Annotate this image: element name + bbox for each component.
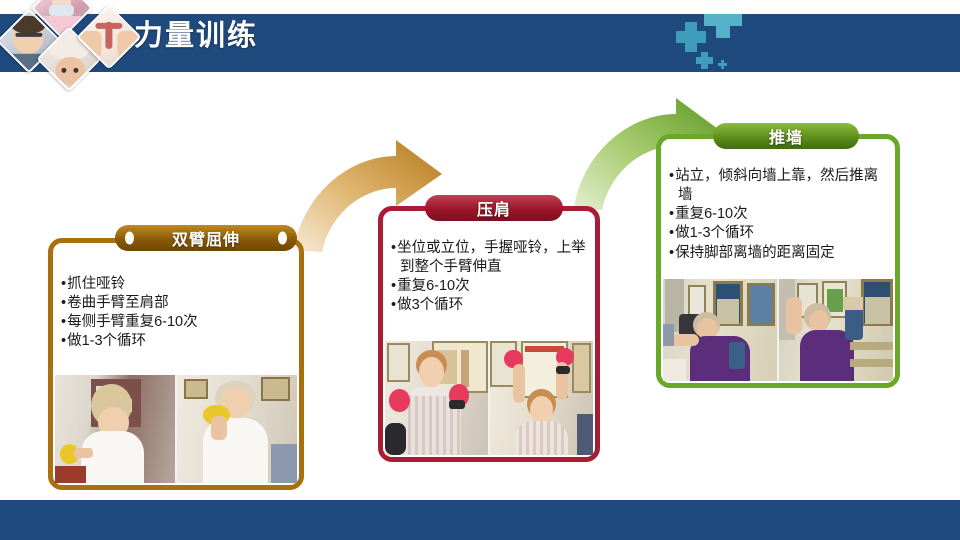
photo-senior-woman-curl-side [55,375,175,483]
card-wall-push: 站立，倾斜向墙上靠，然后推离墙 重复6-10次 做1-3个循环 保持脚部离墙的距… [656,134,900,388]
footer-bar [0,500,960,540]
list-item: 做1-3个循环 [669,224,889,243]
list-item: 抓住哑铃 [61,275,293,294]
card-biceps-curl: 抓住哑铃 卷曲手臂至肩部 每侧手臂重复6-10次 做1-3个循环 [48,238,304,490]
list-item: 做3个循环 [391,296,589,315]
card-shoulder-press-title: 压肩 [425,195,563,221]
card-wall-push-title: 推墙 [713,123,859,149]
photo-senior-woman-press-start [385,341,488,455]
card-shoulder-press-bullets: 坐位或立位，手握哑铃，上举到整个手臂伸直 重复6-10次 做3个循环 [391,239,589,316]
list-item: 重复6-10次 [669,205,889,224]
photo-senior-woman-wall-push [779,279,893,381]
photo-senior-woman-press-up [490,341,593,455]
list-item: 保持脚部离墙的距离固定 [669,244,889,263]
list-item: 重复6-10次 [391,277,589,296]
card-shoulder-press-photos [385,341,593,455]
card-shoulder-press: 坐位或立位，手握哑铃，上举到整个手臂伸直 重复6-10次 做3个循环 [378,206,600,462]
card-wall-push-body: 站立，倾斜向墙上靠，然后推离墙 重复6-10次 做1-3个循环 保持脚部离墙的距… [661,161,895,263]
plus-tiny-icon [718,60,727,69]
plus-medium-icon [676,22,706,52]
card-biceps-curl-body: 抓住哑铃 卷曲手臂至肩部 每侧手臂重复6-10次 做1-3个循环 [53,269,299,352]
plus-crosses-decoration [676,14,776,72]
card-wall-push-bullets: 站立，倾斜向墙上靠，然后推离墙 重复6-10次 做1-3个循环 保持脚部离墙的距… [669,167,889,263]
card-biceps-curl-photos [55,375,297,483]
list-item: 做1-3个循环 [61,332,293,351]
card-biceps-curl-title-text: 双臂屈伸 [172,226,240,250]
card-biceps-curl-title: 双臂屈伸 [115,225,297,251]
card-wall-push-photos [663,279,893,381]
list-item: 卷曲手臂至肩部 [61,294,293,313]
medical-photo-collage-logo [2,0,134,86]
list-item: 站立，倾斜向墙上靠，然后推离墙 [669,167,889,205]
pill-dot-right [278,232,287,245]
card-shoulder-press-title-text: 压肩 [477,196,511,220]
photo-senior-woman-curl-front [177,375,297,483]
card-biceps-curl-bullets: 抓住哑铃 卷曲手臂至肩部 每侧手臂重复6-10次 做1-3个循环 [61,275,293,352]
list-item: 每侧手臂重复6-10次 [61,313,293,332]
list-item: 坐位或立位，手握哑铃，上举到整个手臂伸直 [391,239,589,277]
card-wall-push-title-text: 推墙 [769,124,803,148]
plus-large-icon [704,14,742,38]
photo-senior-woman-wall-lean [663,279,777,381]
card-shoulder-press-body: 坐位或立位，手握哑铃，上举到整个手臂伸直 重复6-10次 做3个循环 [383,233,595,316]
pill-dot-left [125,232,134,245]
page-title: 力量训练 [134,12,258,54]
plus-small-icon [696,52,713,69]
